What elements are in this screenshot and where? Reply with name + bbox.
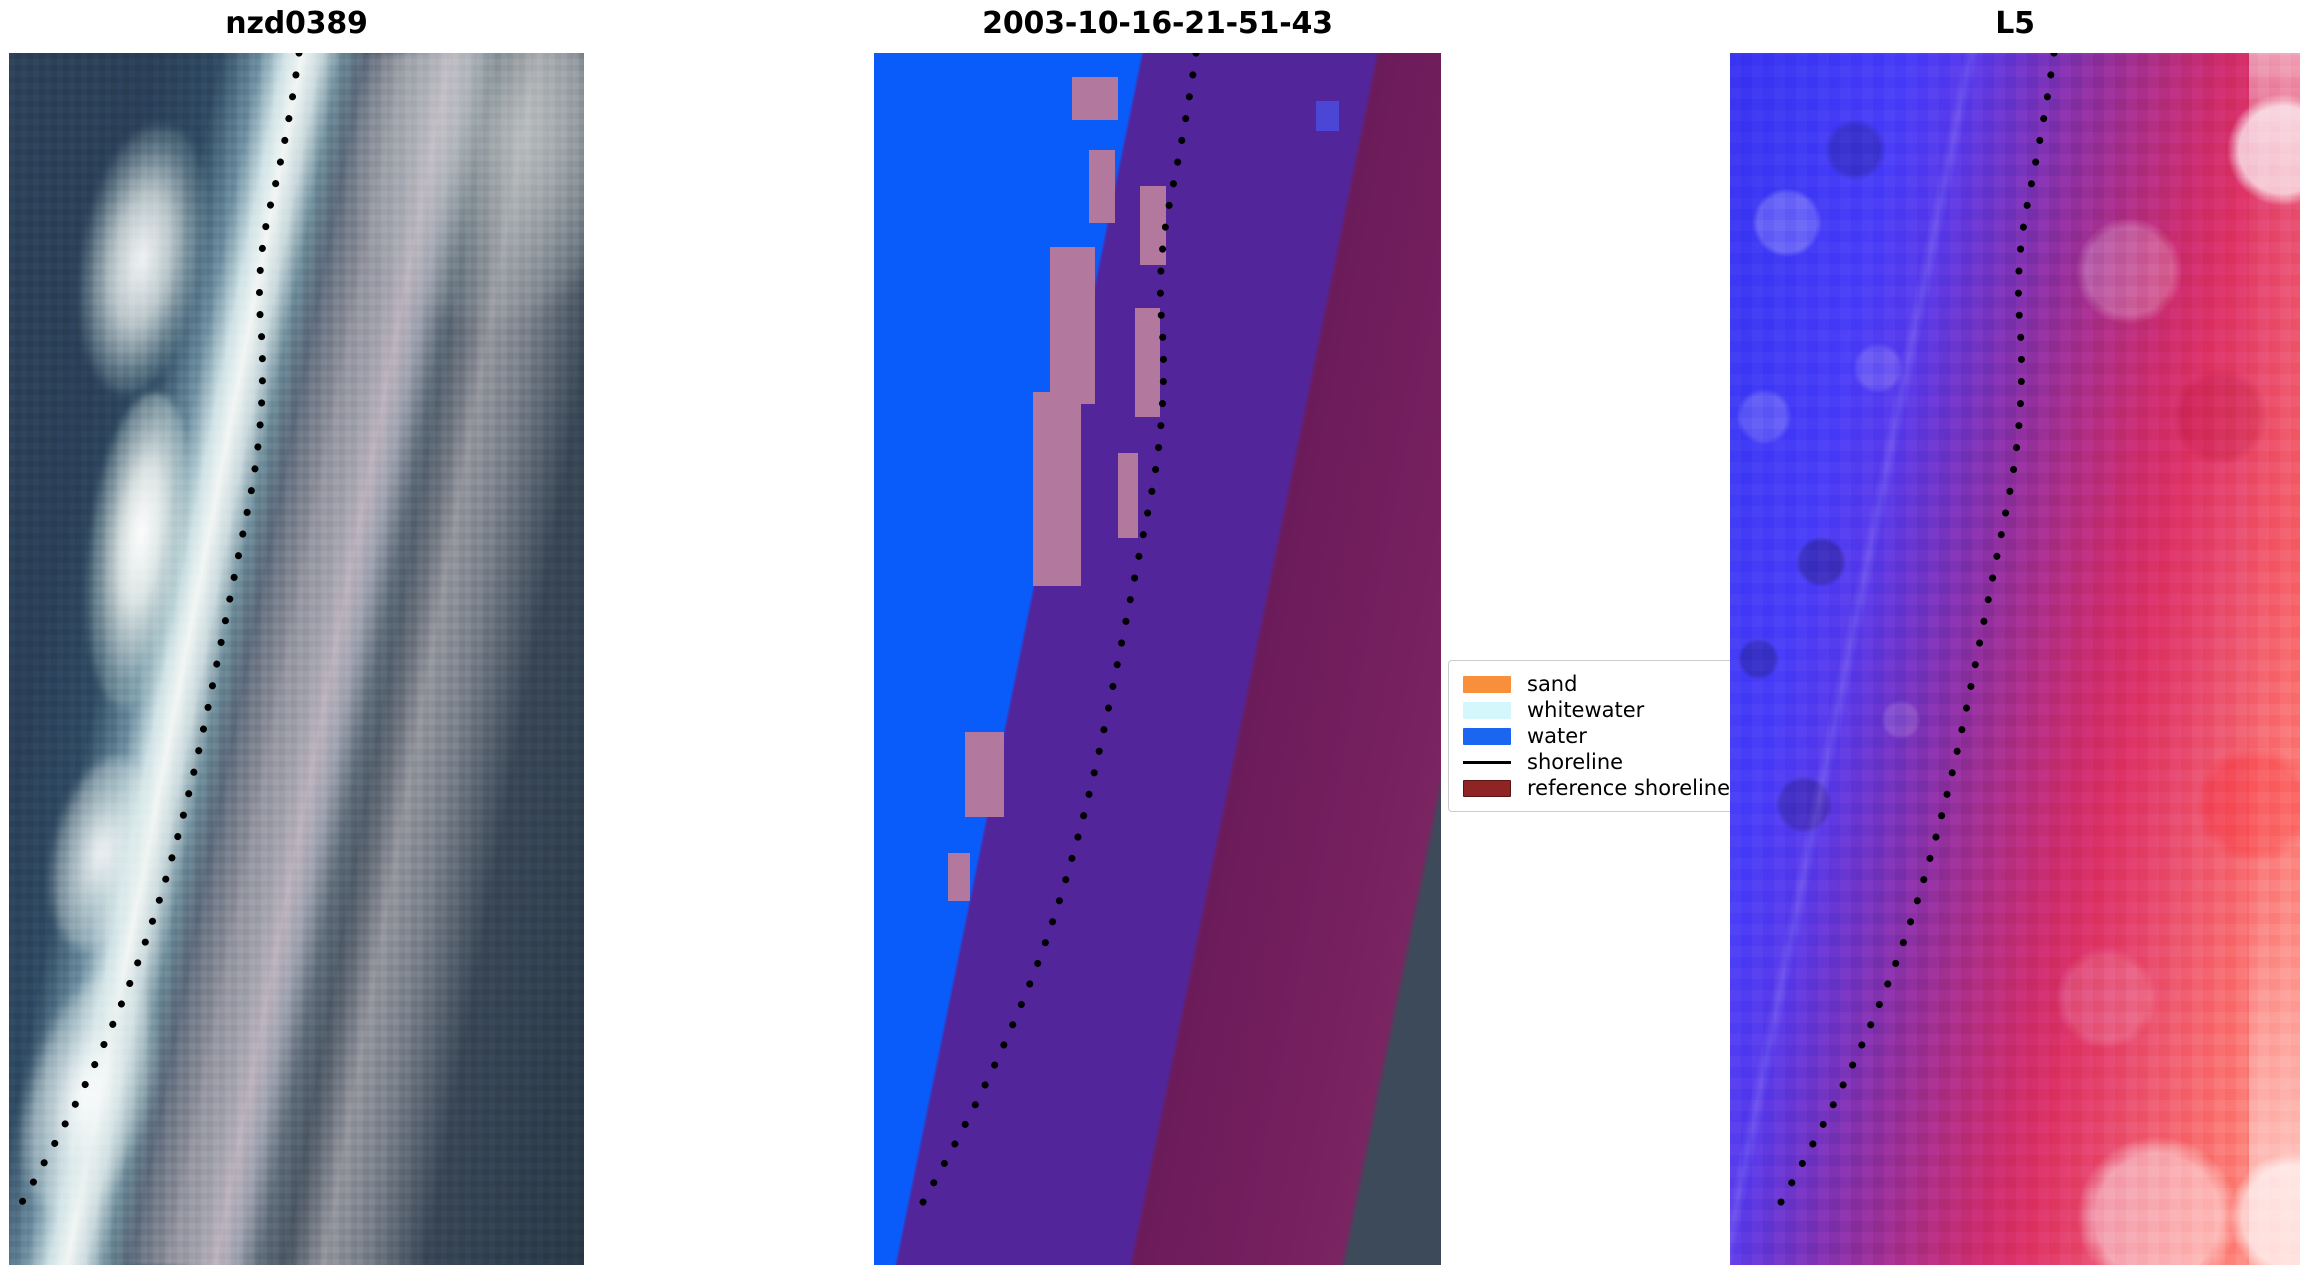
class-whitewater-patch: [965, 732, 1005, 817]
classification-raster: [874, 53, 1441, 1265]
legend-label-water: water: [1527, 723, 1587, 749]
rgb-raster: [9, 53, 584, 1265]
class-whitewater-patch: [948, 853, 971, 901]
rgb-pixel-grain: [9, 53, 584, 1265]
water-swatch-icon: [1463, 728, 1511, 745]
panel-classification-image[interactable]: [874, 53, 1441, 1265]
panel-title-index: L5: [1730, 6, 2300, 42]
panel-title-classification: 2003-10-16-21-51-43: [874, 6, 1441, 42]
legend-label-whitewater: whitewater: [1527, 697, 1644, 723]
class-whitewater-patch: [1118, 453, 1138, 538]
legend: sand whitewater water shoreline referenc…: [1448, 660, 1730, 812]
class-whitewater-patch: [1135, 308, 1161, 417]
legend-label-sand: sand: [1527, 671, 1577, 697]
legend-item-water[interactable]: water: [1463, 723, 1730, 749]
legend-item-shoreline[interactable]: shoreline: [1463, 749, 1730, 775]
index-raster: [1730, 53, 2300, 1265]
reference-buffer-swatch-icon: [1463, 780, 1511, 797]
panel-rgb-image[interactable]: [9, 53, 584, 1265]
class-whitewater-patch: [1072, 77, 1117, 119]
legend-label-shoreline: shoreline: [1527, 749, 1623, 775]
shoreline-line-icon: [1463, 761, 1511, 764]
legend-item-sand[interactable]: sand: [1463, 671, 1730, 697]
legend-box: sand whitewater water shoreline referenc…: [1448, 660, 1730, 812]
class-whitewater-patch: [1089, 150, 1115, 223]
panel-index-image[interactable]: [1730, 53, 2300, 1265]
legend-item-whitewater[interactable]: whitewater: [1463, 697, 1730, 723]
class-whitewater-patch: [1033, 392, 1081, 586]
class-whitewater-patch: [1050, 247, 1095, 405]
class-whitewater-patch: [1140, 186, 1166, 265]
class-water-patch-inland: [1316, 101, 1339, 130]
legend-label-reference-shoreline-buffer: reference shoreline b: [1527, 775, 1730, 801]
figure-canvas: nzd0389 2003-10-16-21-51-43: [0, 0, 2312, 1283]
sand-swatch-icon: [1463, 676, 1511, 693]
whitewater-swatch-icon: [1463, 702, 1511, 719]
legend-item-reference-shoreline-buffer[interactable]: reference shoreline b: [1463, 775, 1730, 801]
panel-title-rgb: nzd0389: [9, 6, 584, 42]
index-pixel-grain: [1730, 53, 2300, 1265]
